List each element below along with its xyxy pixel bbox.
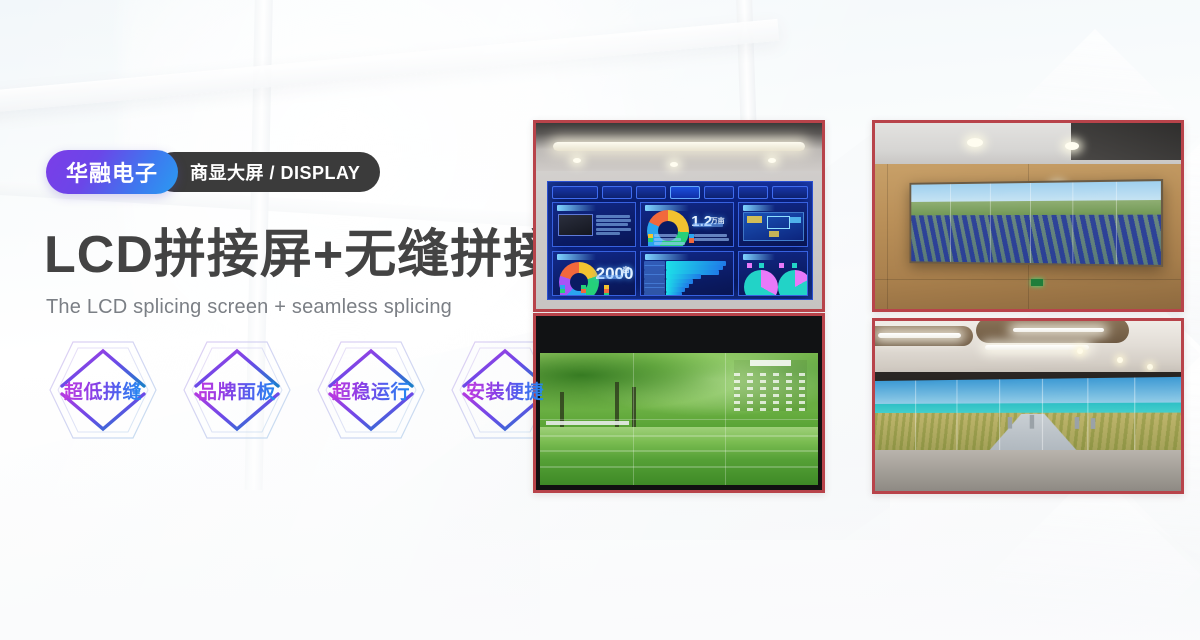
photo-content [536,316,822,490]
feature-label: 安装便捷 [466,377,544,404]
brand-badge-row: 华融电子 商显大屏 / DISPLAY [46,150,380,194]
gallery-photo-beach-videowall[interactable] [872,318,1184,494]
videowall-screen [875,376,1181,456]
banner-canvas: 华融电子 商显大屏 / DISPLAY LCD拼接屏+无缝拼接 The LCD … [0,0,1200,640]
gallery-photo-lake-videowall[interactable] [533,313,825,493]
videowall-screen [540,353,817,485]
brand-pill: 华融电子 [46,150,178,194]
videowall-screen [909,179,1163,267]
feature-item-0[interactable]: 超低拼缝 [44,334,162,446]
category-pill: 商显大屏 / DISPLAY [154,152,380,192]
photo-content [875,123,1181,309]
dashboard-screen: 1.2 万亩 [547,181,812,300]
page-title: LCD拼接屏+无缝拼接 [44,228,556,283]
photo-content: 1.2 万亩 [536,123,822,309]
page-subtitle: The LCD splicing screen + seamless splic… [46,296,452,319]
feature-list: 超低拼缝 品牌面板 超稳运行 [44,334,564,446]
calendar-overlay [734,360,806,410]
feature-item-1[interactable]: 品牌面板 [178,334,296,446]
feature-label: 超稳运行 [332,377,410,404]
feature-label: 品牌面板 [198,377,276,404]
gallery-photo-dashboard-videowall[interactable]: 1.2 万亩 [533,120,825,312]
feature-item-2[interactable]: 超稳运行 [312,334,430,446]
photo-content [875,321,1181,491]
feature-label: 超低拼缝 [64,377,142,404]
gallery-photo-solar-videowall[interactable] [872,120,1184,312]
